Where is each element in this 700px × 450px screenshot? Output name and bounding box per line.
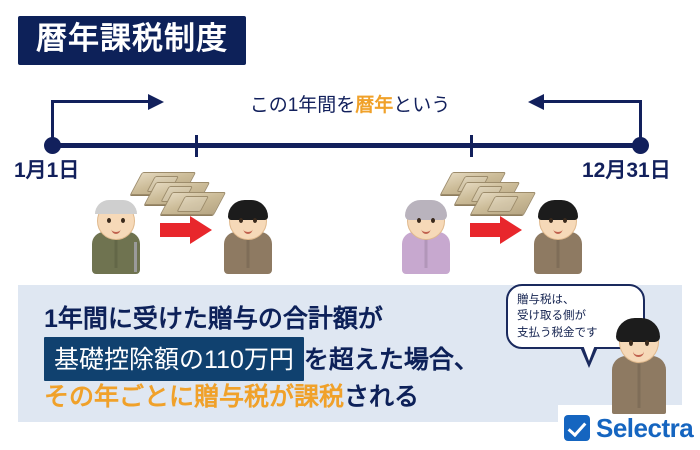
arrow-right-icon [148, 94, 164, 110]
timeline-span-label: この1年間を暦年という [175, 90, 525, 117]
page-title-box: 暦年課税制度 [18, 16, 246, 65]
figure-hair [405, 200, 447, 220]
summary-line-3-highlight: その年ごとに贈与税が課税 [44, 383, 344, 411]
figure-eye [645, 340, 649, 346]
figure-eye [107, 218, 111, 223]
figure-eye [239, 218, 243, 223]
calendar-year-timeline: この1年間を暦年という 1月1日 12月31日 [0, 90, 700, 180]
young-man-receiver-figure [218, 200, 278, 274]
figure-hair [616, 318, 660, 342]
summary-line-2: 基礎控除額の110万円を超えた場合、 [44, 337, 479, 381]
figure-hair [95, 200, 137, 214]
checkbox-check-icon [564, 415, 590, 441]
figure-hair [538, 200, 578, 220]
money-bundle [470, 192, 536, 215]
figure-eye [431, 218, 435, 223]
bracket-right-bar [543, 100, 642, 103]
timeline-start-dot [44, 137, 61, 154]
figure-body [612, 356, 666, 414]
figure-eye [563, 218, 567, 223]
money-bundle [160, 192, 226, 215]
selectra-logo-text: Selectra [596, 415, 693, 441]
gift-illustration-row [0, 178, 700, 274]
speaker-figure [608, 318, 670, 414]
speech-bubble-tail [580, 347, 600, 369]
elderly-woman-figure [396, 200, 456, 274]
summary-line-2-rest: を超えた場合、 [304, 346, 479, 374]
gift-group-1 [78, 178, 308, 274]
span-label-highlight: 暦年 [355, 95, 393, 116]
arrow-shaft [470, 223, 502, 237]
span-label-post: という [393, 95, 450, 116]
summary-line-3: その年ごとに贈与税が課税される [44, 377, 419, 413]
elderly-man-with-cane-figure [86, 200, 146, 274]
timeline-axis [52, 143, 640, 148]
cane-icon [134, 242, 137, 272]
span-label-pre: この1年間を [250, 95, 356, 116]
money-bundles-icon [446, 172, 538, 214]
timeline-tick-1 [195, 135, 198, 157]
money-bundles-icon [136, 172, 228, 214]
timeline-end-dot [632, 137, 649, 154]
figure-eye [629, 340, 633, 346]
figure-hair [228, 200, 268, 220]
bracket-right-stem [639, 100, 642, 138]
summary-line-3-rest: される [344, 383, 419, 411]
gift-group-2 [388, 178, 618, 274]
figure-eye [417, 218, 421, 223]
deduction-amount-chip: 基礎控除額の110万円 [44, 337, 304, 381]
young-man-receiver-figure [528, 200, 588, 274]
bracket-left-bar [51, 100, 151, 103]
summary-line-1: 1年間に受けた贈与の合計額が [44, 299, 383, 335]
speech-bubble-line-1: 贈与税は、 [517, 292, 635, 308]
bubble-tail-inner [583, 345, 595, 361]
arrow-shaft [160, 223, 192, 237]
red-arrow-icon [470, 216, 522, 242]
figure-eye [121, 218, 125, 223]
arrow-left-icon [528, 94, 544, 110]
red-arrow-icon [160, 216, 212, 242]
figure-eye [549, 218, 553, 223]
timeline-tick-2 [470, 135, 473, 157]
page-title: 暦年課税制度 [36, 23, 228, 56]
bracket-left-stem [51, 100, 54, 138]
figure-eye [253, 218, 257, 223]
arrow-head [190, 216, 212, 244]
arrow-head [500, 216, 522, 244]
